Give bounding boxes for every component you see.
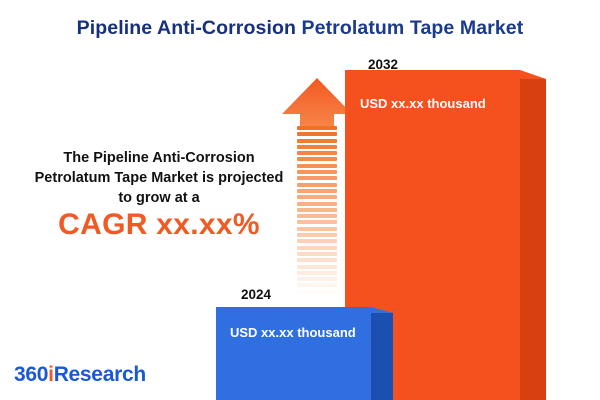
arrow-segment xyxy=(297,214,337,218)
bar-2032-value: USD xx.xx thousand xyxy=(360,96,486,111)
page-title: Pipeline Anti-Corrosion Petrolatum Tape … xyxy=(0,17,600,40)
arrow-segment xyxy=(297,151,337,155)
arrow-segment xyxy=(297,252,337,256)
arrow-segment xyxy=(297,271,337,275)
arrow-segment xyxy=(297,239,337,243)
arrow-segment xyxy=(297,290,337,294)
callout-line-3: to grow at a xyxy=(14,188,304,208)
arrow-segment xyxy=(297,227,337,231)
arrow-segment xyxy=(297,132,337,136)
bar-2032-top-slant xyxy=(520,70,546,79)
up-arrow-icon xyxy=(282,78,352,128)
growth-arrow xyxy=(282,78,352,290)
callout-line-1: The Pipeline Anti-Corrosion xyxy=(14,148,304,168)
callout-line-2: Petrolatum Tape Market is projected xyxy=(14,168,304,188)
cagr-value: CAGR xx.xx% xyxy=(14,208,304,242)
arrow-segment xyxy=(297,183,337,187)
arrow-segment xyxy=(297,126,337,130)
title-part-2: Petrolatum Tape Market xyxy=(296,17,523,39)
bar-2032-top xyxy=(345,70,520,79)
arrow-segment xyxy=(297,139,337,143)
logo-text-pre: 360 xyxy=(14,363,48,386)
title-part-1: Pipeline Anti-Corrosion xyxy=(77,17,296,39)
bar-2024-value: USD xx.xx thousand xyxy=(230,325,356,340)
bar-2032-side xyxy=(520,79,546,400)
arrow-segment xyxy=(297,189,337,193)
arrow-segment xyxy=(297,176,337,180)
arrow-segment xyxy=(297,233,337,237)
arrow-segment xyxy=(297,246,337,250)
arrow-segment xyxy=(297,220,337,224)
arrow-segment xyxy=(297,208,337,212)
bar-label-2024: 2024 xyxy=(216,287,296,302)
arrow-segments xyxy=(297,126,337,290)
arrow-segment xyxy=(297,145,337,149)
arrow-segment xyxy=(297,277,337,281)
arrow-segment xyxy=(297,157,337,161)
arrow-segment xyxy=(297,258,337,262)
brand-logo: 360iResearch xyxy=(14,363,146,387)
arrow-segment xyxy=(297,265,337,269)
logo-text-post: Research xyxy=(54,363,146,386)
arrow-segment xyxy=(297,195,337,199)
arrow-segment xyxy=(297,283,337,287)
arrow-segment xyxy=(297,164,337,168)
callout-text: The Pipeline Anti-Corrosion Petrolatum T… xyxy=(14,148,304,208)
arrow-segment xyxy=(297,170,337,174)
bar-2024-side xyxy=(371,313,393,400)
infographic-canvas: Pipeline Anti-Corrosion Petrolatum Tape … xyxy=(0,0,600,400)
arrow-segment xyxy=(297,202,337,206)
